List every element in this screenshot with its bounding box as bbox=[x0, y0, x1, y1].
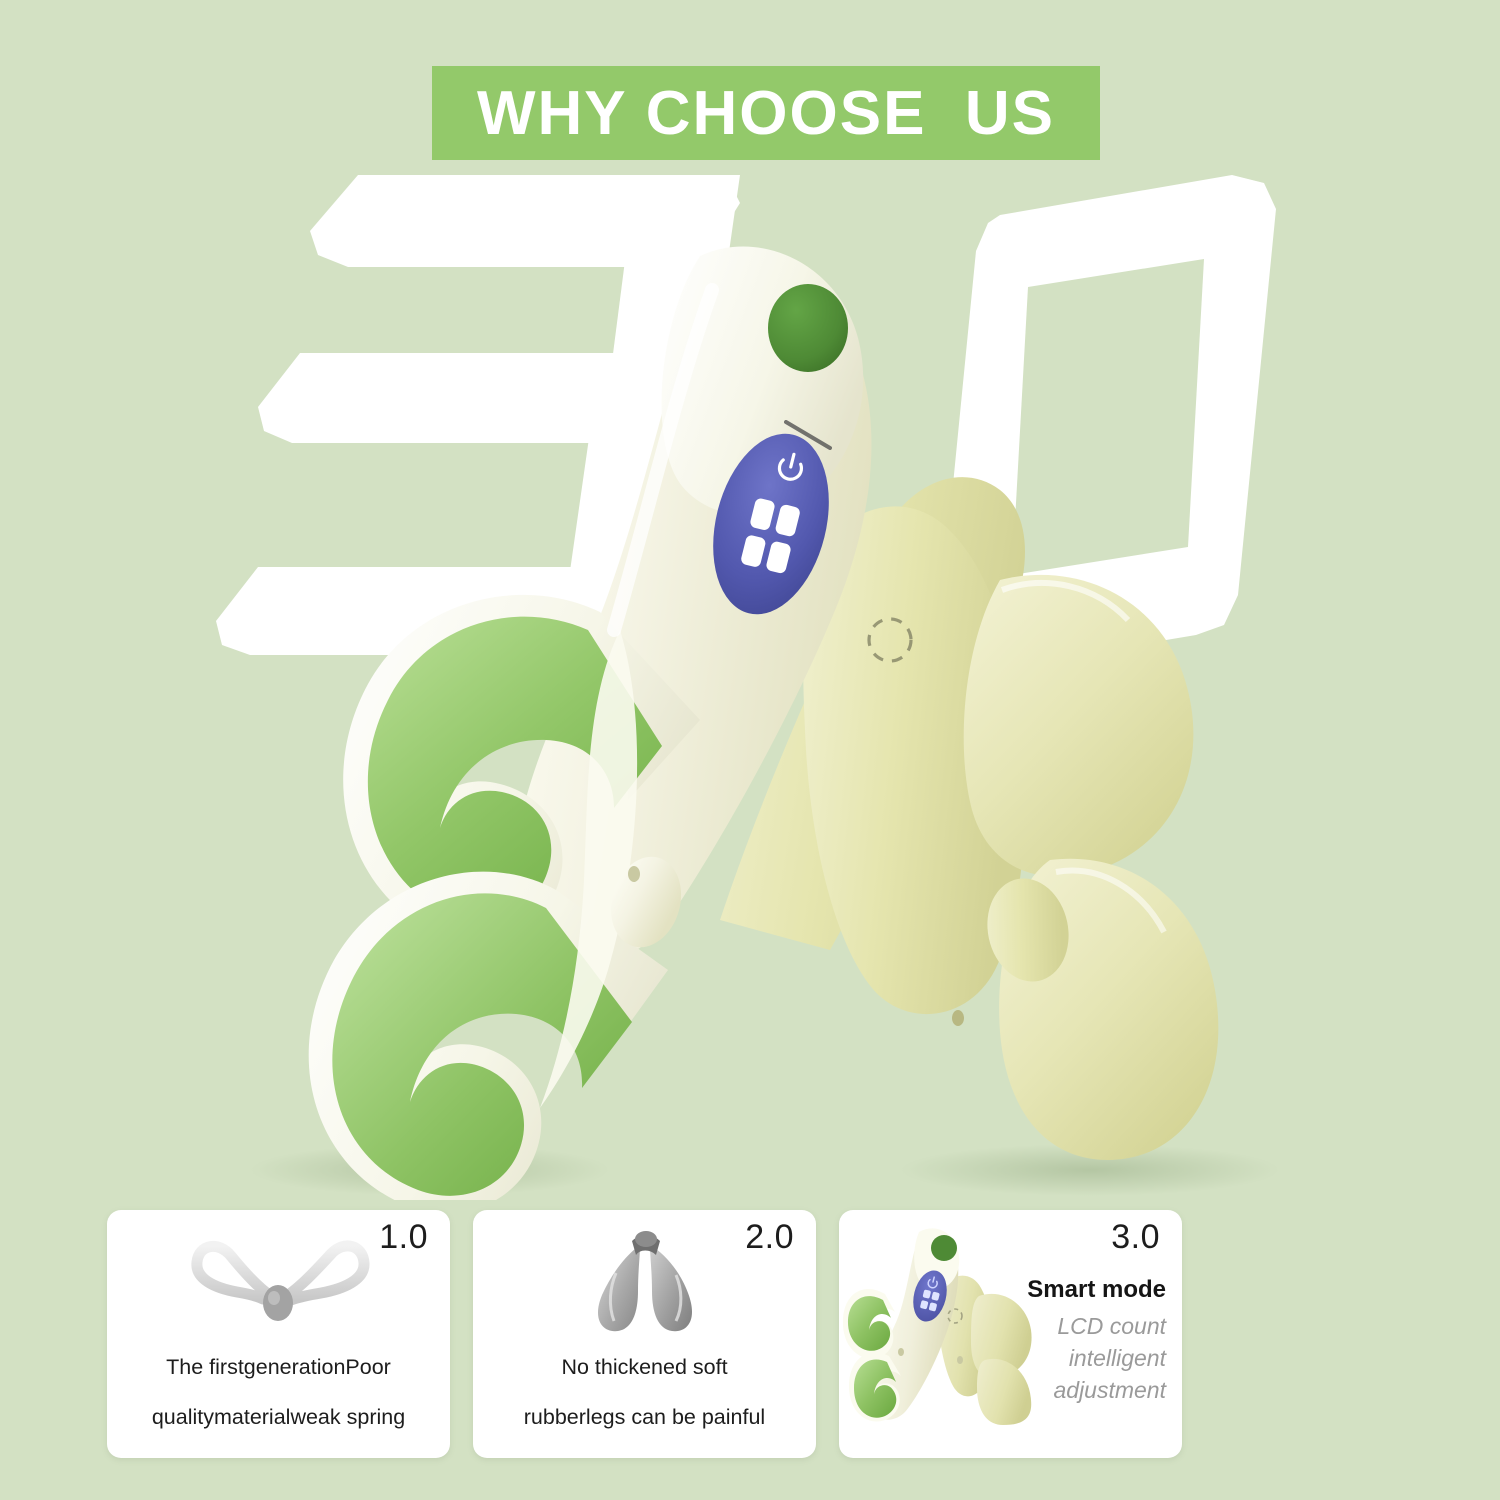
card-3-text-block: Smart mode LCD count intelligent adjustm… bbox=[991, 1276, 1166, 1406]
card-caption: No thickened soft rubberlegs can be pain… bbox=[473, 1342, 816, 1442]
card-version-label: 3.0 bbox=[1111, 1218, 1160, 1257]
caption-line-1: The firstgenerationPoor bbox=[107, 1342, 450, 1392]
card-version-1[interactable]: 1.0 The firstgenerationPoor qualitymater… bbox=[107, 1210, 450, 1458]
smart-mode-subtitle-line-1: LCD count bbox=[991, 1310, 1166, 1342]
vent-dot-right bbox=[952, 1010, 964, 1026]
card-version-3[interactable]: 3.0 bbox=[839, 1210, 1182, 1458]
vent-dot-left bbox=[628, 866, 640, 882]
card-caption: The firstgenerationPoor qualitymaterialw… bbox=[107, 1342, 450, 1442]
caption-line-1: No thickened soft bbox=[473, 1342, 816, 1392]
smart-mode-title: Smart mode bbox=[991, 1276, 1166, 1304]
product-hero-image bbox=[0, 160, 1500, 1200]
caption-line-2: qualitymaterialweak spring bbox=[107, 1392, 450, 1442]
caption-line-2: rubberlegs can be painful bbox=[473, 1392, 816, 1442]
why-choose-us-banner: WHY CHOOSE US bbox=[432, 66, 1100, 160]
power-button bbox=[768, 284, 848, 372]
smart-mode-subtitle-line-2: intelligent bbox=[991, 1342, 1166, 1374]
smart-mode-subtitle-line-3: adjustment bbox=[991, 1374, 1166, 1406]
card-version-2[interactable]: 2.0 bbox=[473, 1210, 816, 1458]
page-title: WHY CHOOSE US bbox=[477, 78, 1055, 149]
wireframe-exerciser-icon bbox=[107, 1228, 450, 1340]
hard-plastic-exerciser-icon bbox=[473, 1228, 816, 1340]
power-button-small bbox=[931, 1235, 957, 1261]
version-comparison-cards: 1.0 The firstgenerationPoor qualitymater… bbox=[107, 1210, 1384, 1458]
